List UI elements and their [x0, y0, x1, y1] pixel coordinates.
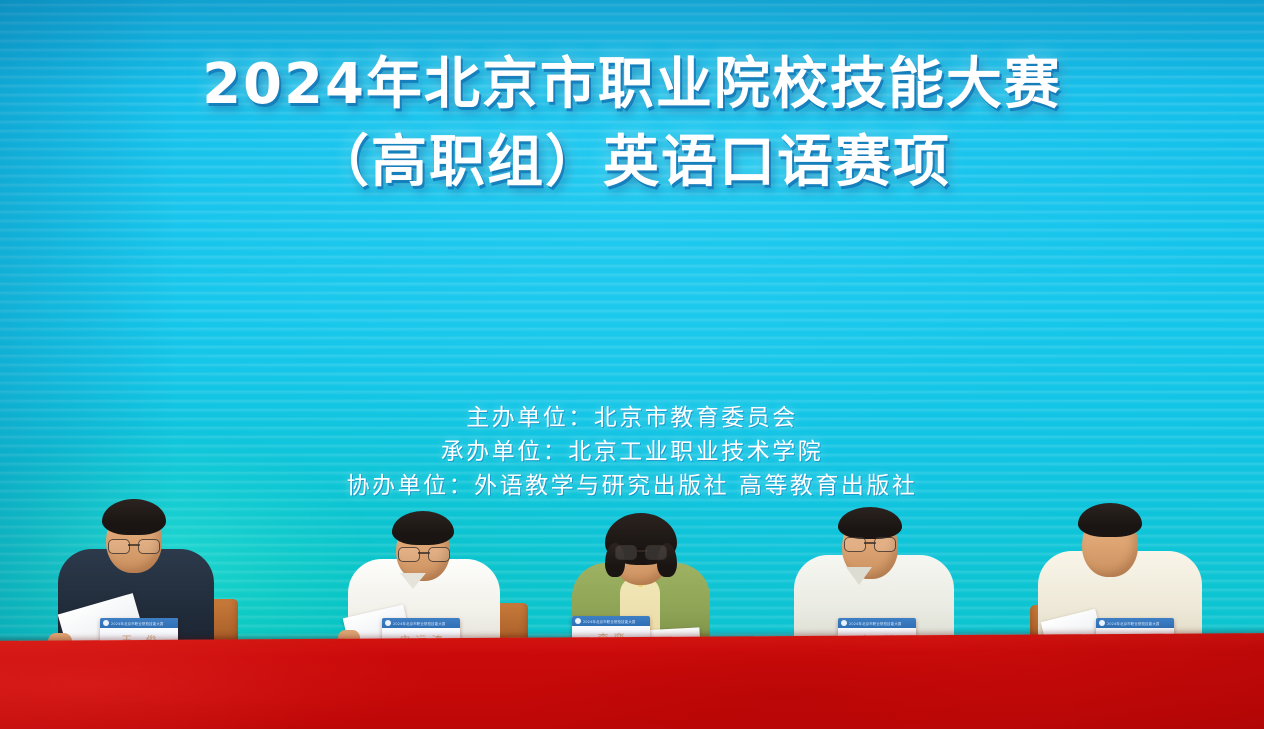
- panel-table-red-skirt: [0, 633, 1264, 729]
- hair: [1078, 503, 1142, 537]
- placard-header-bar: 2024年北京市职业院校技能大赛: [100, 618, 178, 628]
- glasses-icon: [615, 545, 667, 559]
- shirt-collar: [846, 567, 872, 585]
- placard-header-text: 2024年北京市职业院校技能大赛: [583, 619, 636, 624]
- placard-header-bar: 2024年北京市职业院校技能大赛: [382, 618, 460, 628]
- glasses-icon: [844, 537, 896, 551]
- glasses-icon: [108, 539, 160, 553]
- placard-logo-icon: [1099, 620, 1105, 626]
- headline-line-1: 2024年北京市职业院校技能大赛: [202, 52, 1062, 117]
- shirt-collar: [400, 573, 426, 589]
- hair: [102, 499, 166, 535]
- placard-header-text: 2024年北京市职业院校技能大赛: [111, 621, 164, 626]
- placard-logo-icon: [841, 620, 847, 626]
- placard-header-bar: 2024年北京市职业院校技能大赛: [838, 618, 916, 628]
- organiser-block: 主办单位：北京市教育委员会 承办单位：北京工业职业技术学院 协办单位：外语教学与…: [0, 401, 1264, 503]
- placard-header-text: 2024年北京市职业院校技能大赛: [393, 621, 446, 626]
- headline-line-2: （高职组）英语口语赛项: [0, 124, 1264, 202]
- placard-logo-icon: [385, 620, 391, 626]
- panelist-seat-4: 2024年北京市职业院校技能大赛 李 健: [786, 505, 962, 651]
- glasses-icon: [398, 547, 450, 561]
- panelist-seat-3: 2024年北京市职业院校技能大赛 李奕: [566, 511, 716, 651]
- organiser-line-host: 主办单位：北京市教育委员会: [0, 401, 1264, 435]
- event-headline: 2024年北京市职业院校技能大赛 （高职组）英语口语赛项: [0, 46, 1264, 202]
- panelist-seat-2: 2024年北京市职业院校技能大赛 史远涛: [336, 511, 522, 651]
- event-photo-stage: 2024年北京市职业院校技能大赛 （高职组）英语口语赛项 主办单位：北京市教育委…: [0, 0, 1264, 729]
- organiser-line-coorganiser: 协办单位：外语教学与研究出版社 高等教育出版社: [0, 469, 1264, 503]
- panelist-seat-1: 2024年北京市职业院校技能大赛 王 俊: [44, 501, 234, 651]
- hair: [838, 507, 902, 539]
- placard-header-bar: 2024年北京市职业院校技能大赛: [572, 616, 650, 626]
- hair: [392, 511, 454, 545]
- placard-logo-icon: [103, 620, 109, 626]
- placard-logo-icon: [575, 618, 581, 624]
- panelist-seat-5: 2024年北京市职业院校技能大赛 刘 斌: [1022, 501, 1212, 651]
- placard-header-text: 2024年北京市职业院校技能大赛: [1107, 621, 1160, 626]
- placard-header-bar: 2024年北京市职业院校技能大赛: [1096, 618, 1174, 628]
- organiser-line-organiser: 承办单位：北京工业职业技术学院: [0, 435, 1264, 469]
- placard-header-text: 2024年北京市职业院校技能大赛: [849, 621, 902, 626]
